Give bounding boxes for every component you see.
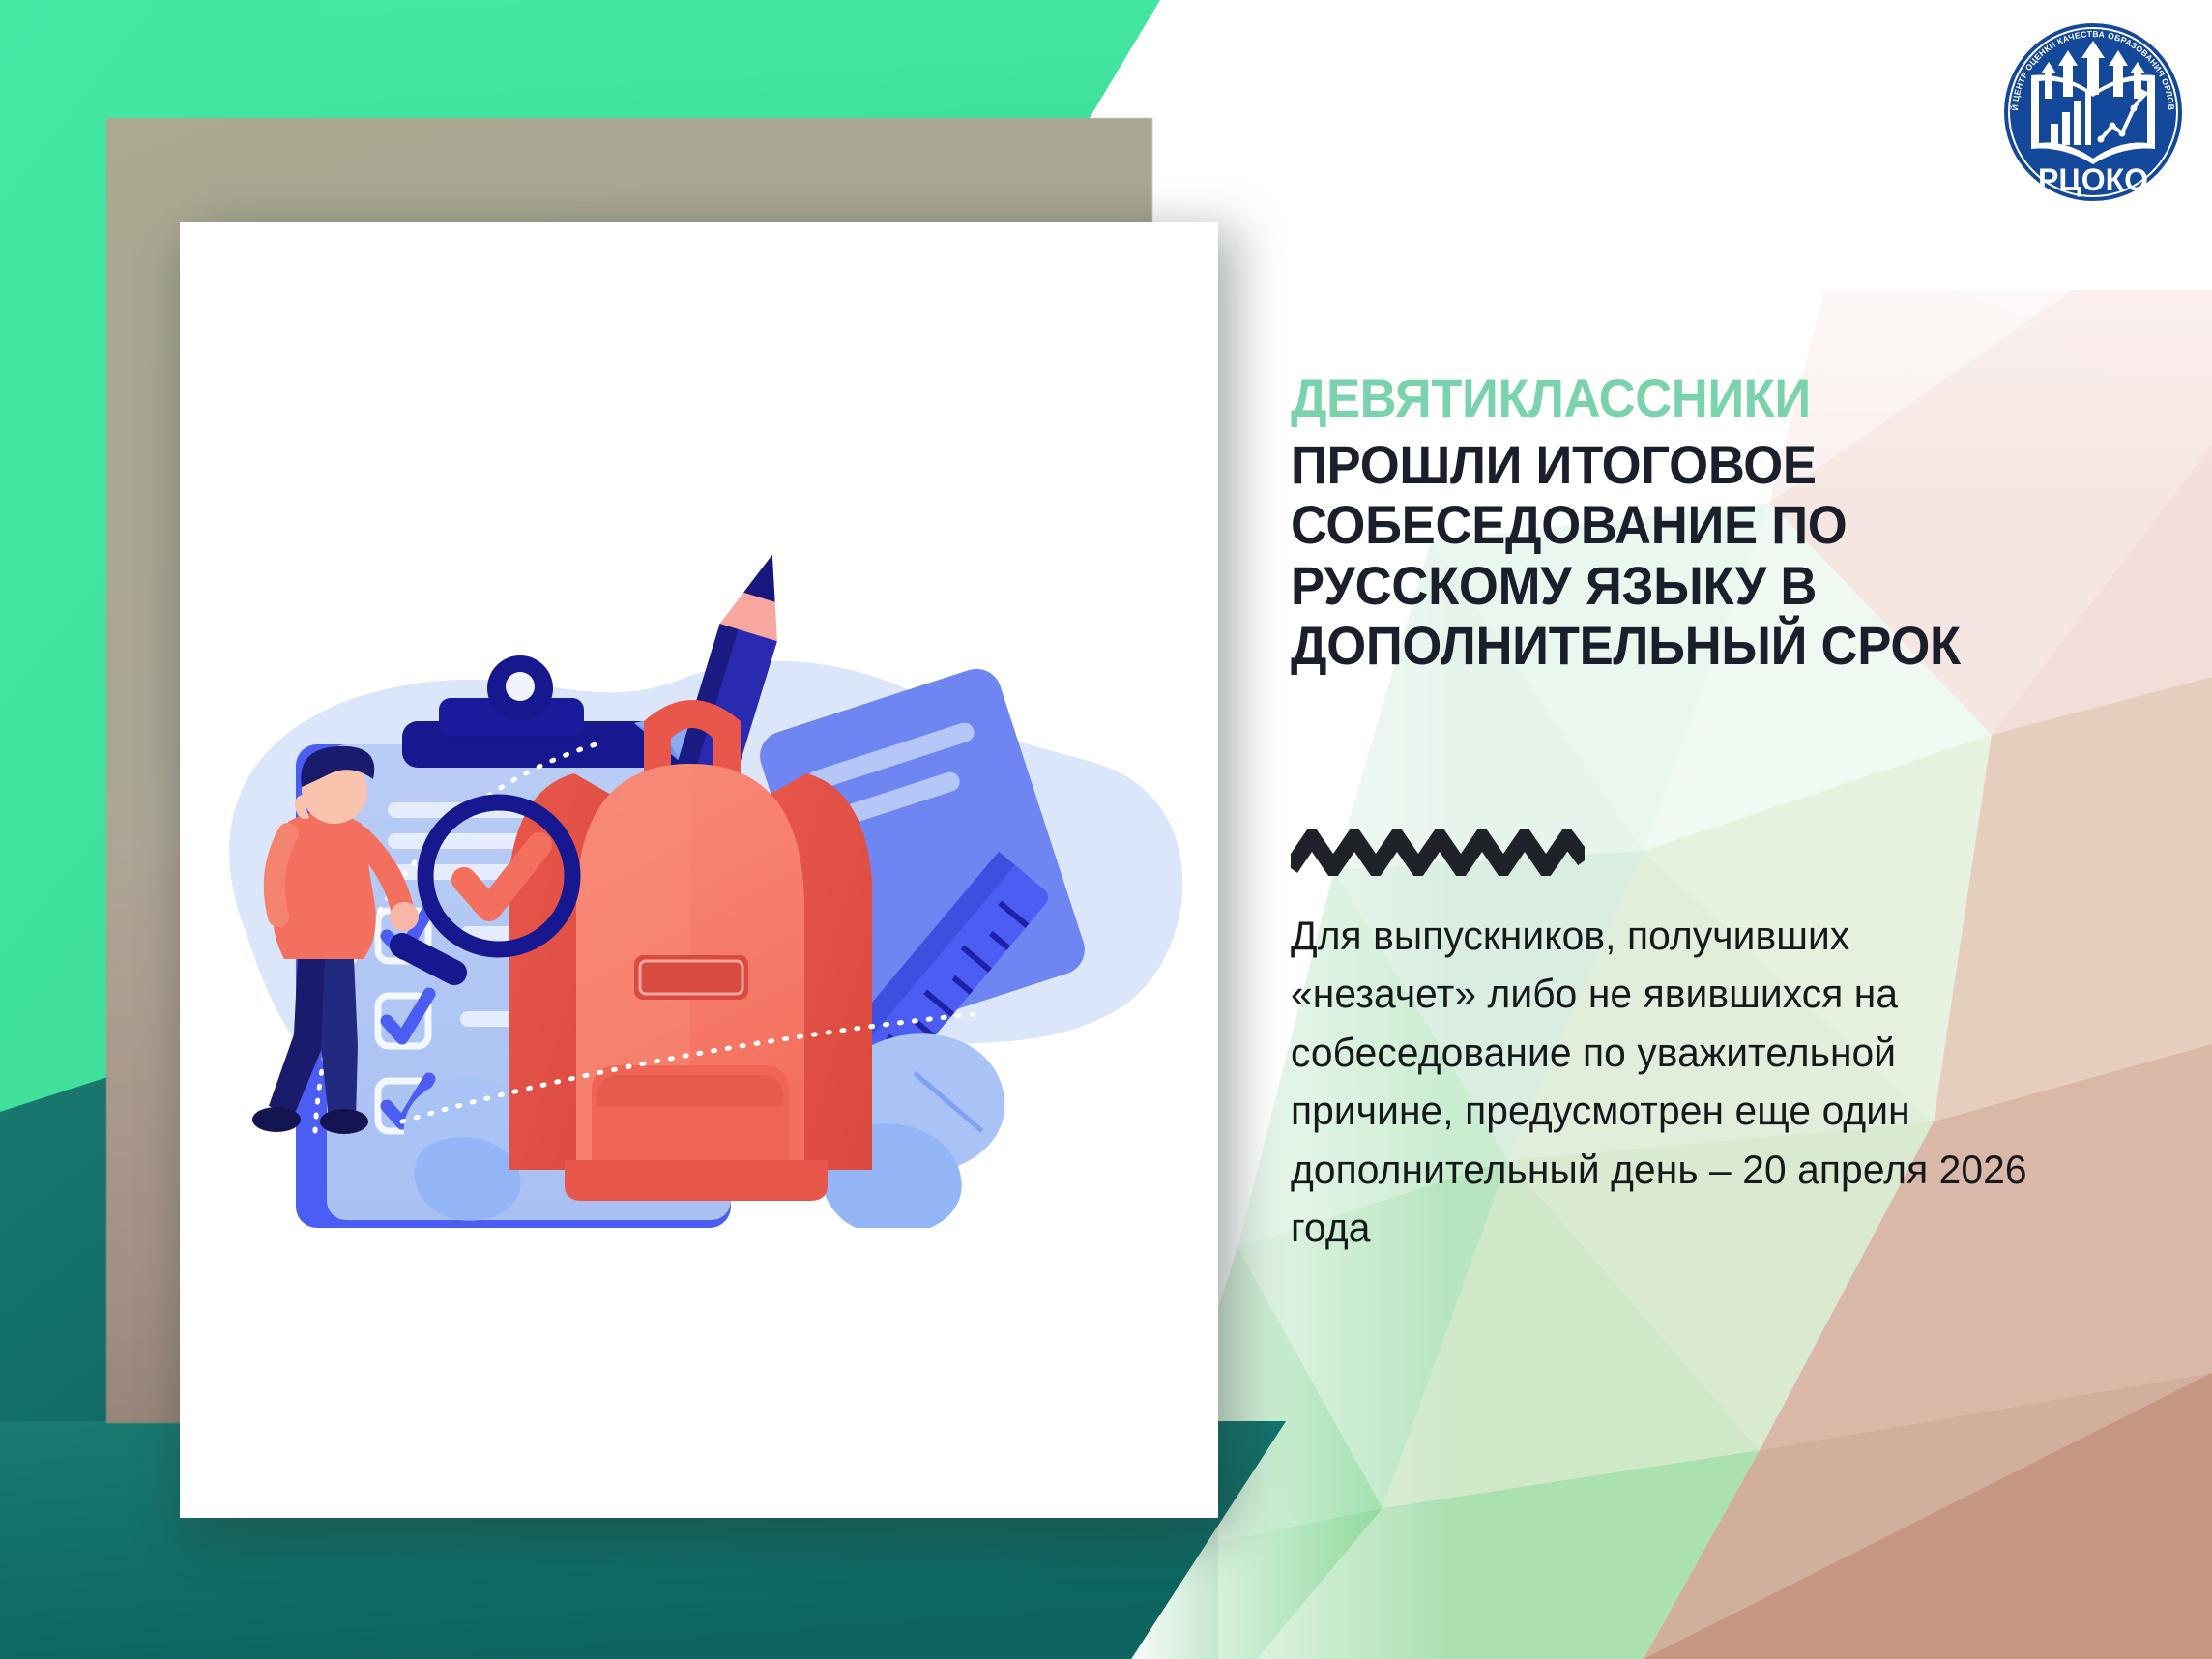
kicker-heading: ДЕВЯТИКЛАССНИКИ [1291, 371, 1811, 425]
illustration [180, 454, 1218, 1228]
rcoko-logo: РЕГИОНАЛЬНЫЙ ЦЕНТР ОЦЕНКИ КАЧЕСТВА ОБРАЗ… [1996, 15, 2190, 209]
logo-abbreviation: РЦОКО [2038, 162, 2148, 197]
body-paragraph: Для выпускников, получивших «незачет» ли… [1291, 907, 2046, 1258]
poster-canvas: ДЕВЯТИКЛАССНИКИ ПРОШЛИ ИТОГОВОЕ СОБЕСЕДО… [0, 0, 2212, 1659]
text-column: ДЕВЯТИКЛАССНИКИ ПРОШЛИ ИТОГОВОЕ СОБЕСЕДО… [1291, 0, 2083, 1659]
zigzag-divider [1291, 829, 1585, 876]
page-title: ПРОШЛИ ИТОГОВОЕ СОБЕСЕДОВАНИЕ ПО РУССКОМ… [1291, 435, 2018, 677]
